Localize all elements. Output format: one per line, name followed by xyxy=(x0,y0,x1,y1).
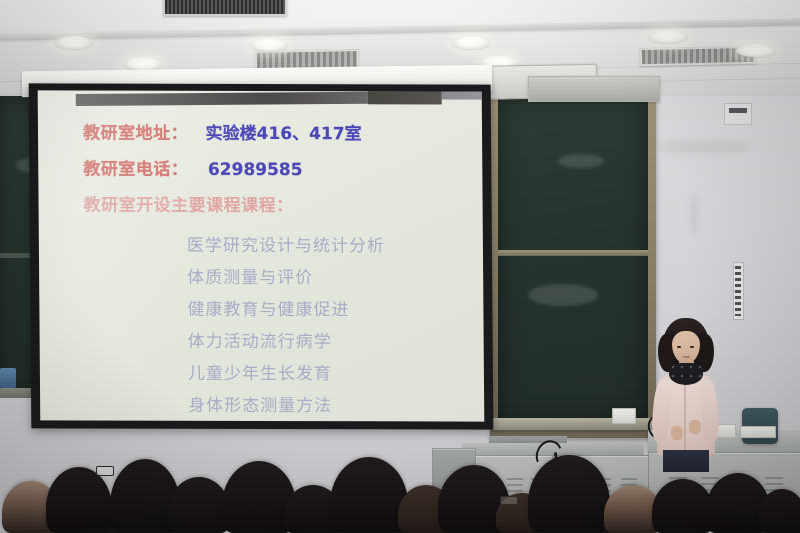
blue-box-on-tray[interactable] xyxy=(0,368,16,388)
chalk-smudge xyxy=(558,154,604,168)
audience-head xyxy=(46,467,112,533)
ceiling-beam xyxy=(528,76,660,102)
glasses-icon xyxy=(500,496,518,505)
audience xyxy=(0,440,800,533)
blackboard-right-rail xyxy=(498,250,648,256)
presenter-eye xyxy=(690,346,694,348)
blackboard-right xyxy=(498,94,648,424)
ceiling-light xyxy=(55,36,93,49)
slide-label-phone: 教研室电话： xyxy=(83,160,188,180)
wall-notice-sign xyxy=(733,262,744,320)
presenter-eye xyxy=(677,346,681,348)
ceiling-light xyxy=(250,38,288,51)
slide-course-item: 健康教育与健康促进 xyxy=(187,295,349,320)
audience-head xyxy=(652,479,714,533)
wall-mark xyxy=(660,140,750,154)
wall-switch-slot xyxy=(729,108,747,113)
projector-screen-surface: 教研室地址： 实验楼416、417室 教研室电话： 62989585 教研室开设… xyxy=(38,90,485,421)
air-vent-icon xyxy=(163,0,287,16)
wall-scuff xyxy=(690,195,698,235)
presenter-hand-left xyxy=(671,426,683,440)
presenter-scarf xyxy=(669,363,703,385)
audience-head xyxy=(168,477,230,533)
chalk-eraser[interactable] xyxy=(612,408,636,424)
slide-value-phone: 62989585 xyxy=(208,160,303,180)
lecture-hall-photo: 教研室地址： 实验楼416、417室 教研室电话： 62989585 教研室开设… xyxy=(0,0,800,533)
slide-value-address: 实验楼416、417室 xyxy=(206,124,362,144)
slide-section-heading: 教研室开设主要课程课程： xyxy=(83,191,293,217)
slide-course-item: 儿童少年生长发育 xyxy=(188,359,332,384)
slide-course-item: 身体形态测量方法 xyxy=(188,391,332,416)
presenter-hand-right xyxy=(689,420,701,434)
papers-stack[interactable] xyxy=(740,426,776,438)
slide-content: 教研室地址： 实验楼416、417室 教研室电话： 62989585 教研室开设… xyxy=(38,90,485,421)
wall-switch-plate[interactable] xyxy=(724,103,752,125)
chalk-smudge xyxy=(528,284,598,306)
audience-head xyxy=(528,455,610,533)
ceiling-light xyxy=(452,36,490,49)
glasses-icon xyxy=(96,466,114,476)
slide-course-item: 体力活动流行病学 xyxy=(188,327,332,352)
slide-course-item: 医学研究设计与统计分析 xyxy=(187,231,385,257)
projector-screen-frame: 教研室地址： 实验楼416、417室 教研室电话： 62989585 教研室开设… xyxy=(29,83,494,429)
ceiling-light xyxy=(736,44,776,57)
ceiling-light xyxy=(124,57,162,70)
ceiling-light xyxy=(648,30,688,43)
presenter-mouth xyxy=(683,356,690,358)
slide-course-item: 体质测量与评价 xyxy=(187,263,313,288)
slide-label-address: 教研室地址： xyxy=(83,124,188,144)
audience-head xyxy=(330,457,408,533)
wall-notice-sign-text xyxy=(735,266,741,316)
